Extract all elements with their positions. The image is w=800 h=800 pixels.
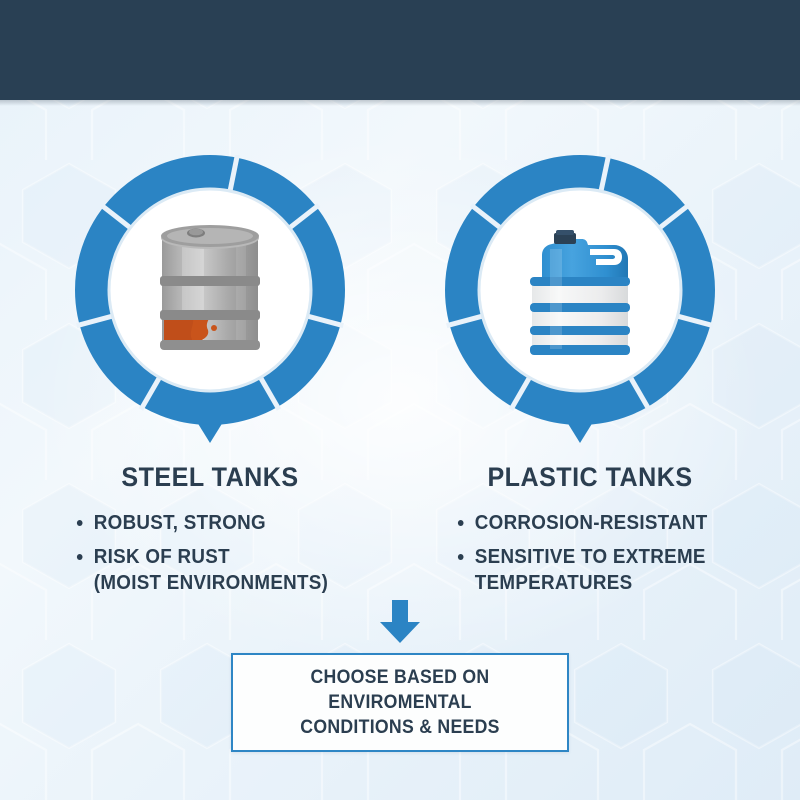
heading-plastic: Plastic Tanks [432, 462, 748, 493]
column-plastic: Plastic Tanks Corrosion-Resistant Sensit… [420, 462, 760, 604]
conclusion-text: Choose Based on Enviromental Conditions … [245, 665, 556, 740]
arrow-down-icon [379, 600, 421, 644]
conclusion-box: Choose Based on Enviromental Conditions … [231, 653, 569, 752]
infographic-page: Diesel Tank Durability: Material Compari… [0, 0, 800, 800]
column-steel: Steel Tanks Robust, Strong Risk of Rust … [40, 462, 380, 604]
badge-steel-tanks [75, 155, 345, 445]
bullet-plastic-1: Corrosion-Resistant [456, 510, 708, 536]
bullet-steel-2: Risk of Rust (Moist Environments) [75, 544, 328, 596]
header-bar [0, 0, 800, 100]
plastic-jerrycan-icon [445, 155, 715, 425]
bullet-plastic-2: Sensitive to Extreme Temperatures [456, 544, 708, 596]
bullet-list-plastic: Corrosion-Resistant Sensitive to Extreme… [456, 510, 724, 604]
header-shadow [0, 100, 800, 106]
steel-drum-icon [75, 155, 345, 425]
bullet-steel-1: Robust, Strong [75, 510, 328, 536]
badge-plastic-tanks [445, 155, 715, 445]
bullet-list-steel: Robust, Strong Risk of Rust (Moist Envir… [75, 510, 344, 604]
heading-steel: Steel Tanks [52, 462, 368, 493]
